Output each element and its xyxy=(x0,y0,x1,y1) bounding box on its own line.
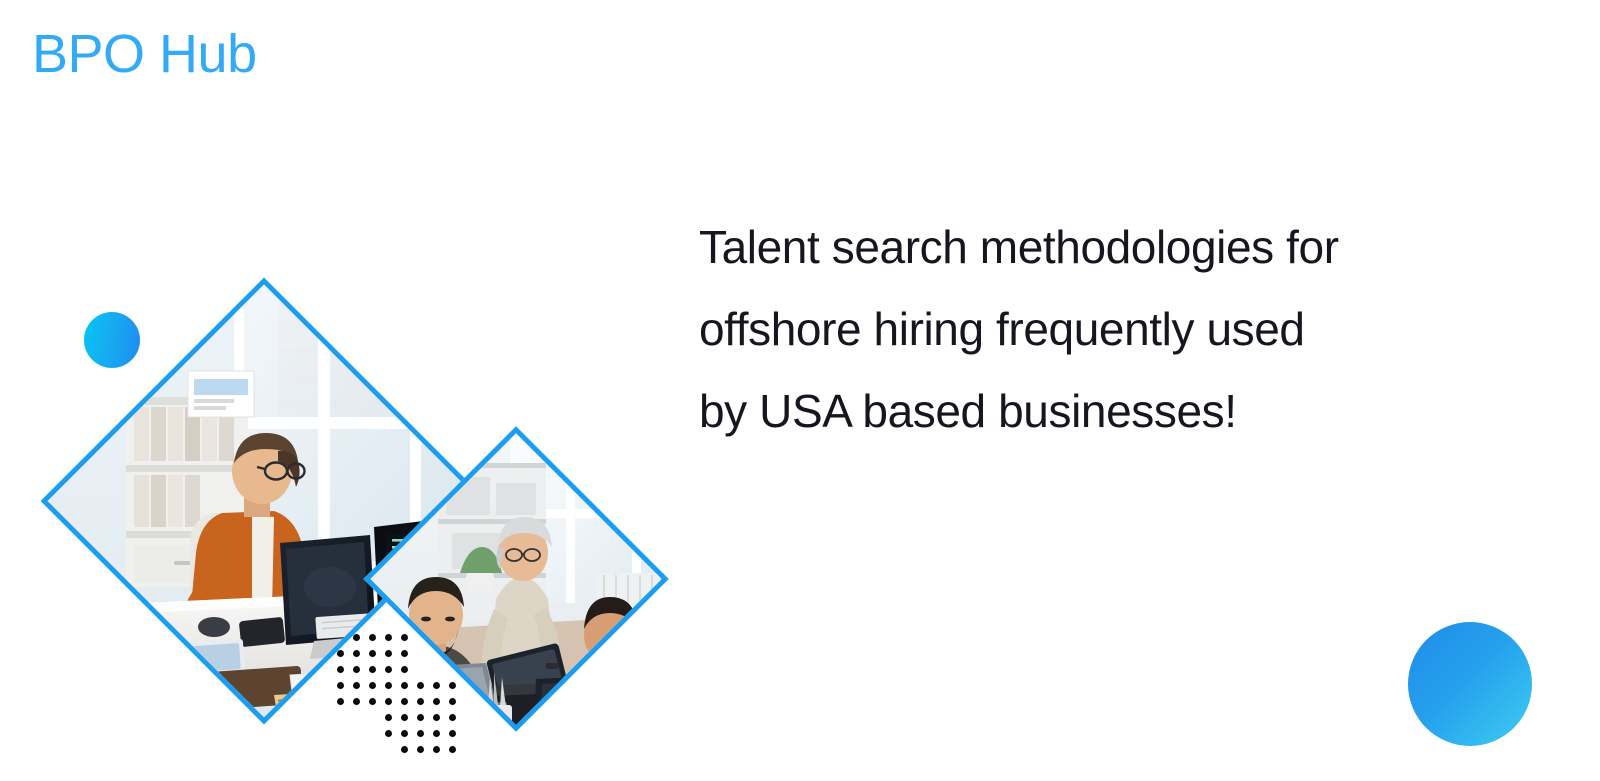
grid-dot xyxy=(385,698,392,705)
grid-dot xyxy=(369,666,376,673)
grid-dot xyxy=(433,714,440,721)
grid-dot xyxy=(385,666,392,673)
grid-dot xyxy=(401,714,408,721)
headline-line-2: offshore hiring frequently used xyxy=(699,288,1419,370)
grid-dot xyxy=(401,634,408,641)
grid-dot xyxy=(449,714,456,721)
brand-logo-text: BPO Hub xyxy=(32,25,257,84)
grid-dot xyxy=(353,666,360,673)
grid-dot xyxy=(449,682,456,689)
grid-dot xyxy=(337,650,344,657)
grid-dot xyxy=(417,698,424,705)
grid-dot xyxy=(353,650,360,657)
slide-canvas: BPO Hub xyxy=(0,0,1600,781)
grid-dot xyxy=(433,730,440,737)
grid-dot xyxy=(337,698,344,705)
grid-dot xyxy=(401,666,408,673)
grid-dot xyxy=(337,682,344,689)
grid-dot xyxy=(417,730,424,737)
grid-dot xyxy=(353,698,360,705)
large-gradient-circle xyxy=(1408,622,1532,746)
grid-dot xyxy=(417,682,424,689)
grid-dot xyxy=(449,746,456,753)
grid-dot xyxy=(369,650,376,657)
grid-dot xyxy=(401,746,408,753)
grid-dot xyxy=(417,746,424,753)
grid-dot xyxy=(385,650,392,657)
grid-dot xyxy=(353,682,360,689)
grid-dot xyxy=(385,634,392,641)
grid-dot xyxy=(353,634,360,641)
grid-dot xyxy=(433,682,440,689)
grid-dot xyxy=(385,682,392,689)
grid-dot xyxy=(337,666,344,673)
grid-dot xyxy=(449,698,456,705)
grid-dot xyxy=(401,730,408,737)
grid-dot xyxy=(433,698,440,705)
grid-dot xyxy=(369,698,376,705)
grid-dot xyxy=(401,650,408,657)
grid-dot xyxy=(401,682,408,689)
grid-dot xyxy=(417,714,424,721)
grid-dot xyxy=(369,682,376,689)
grid-dot xyxy=(385,730,392,737)
grid-dot xyxy=(449,730,456,737)
headline-line-1: Talent search methodologies for xyxy=(699,206,1419,288)
headline-line-3: by USA based businesses! xyxy=(699,370,1419,452)
grid-dot xyxy=(401,698,408,705)
grid-dot xyxy=(369,634,376,641)
small-gradient-circle xyxy=(84,312,140,368)
page-headline: Talent search methodologies for offshore… xyxy=(699,206,1419,452)
grid-dot xyxy=(433,746,440,753)
grid-dot xyxy=(385,714,392,721)
